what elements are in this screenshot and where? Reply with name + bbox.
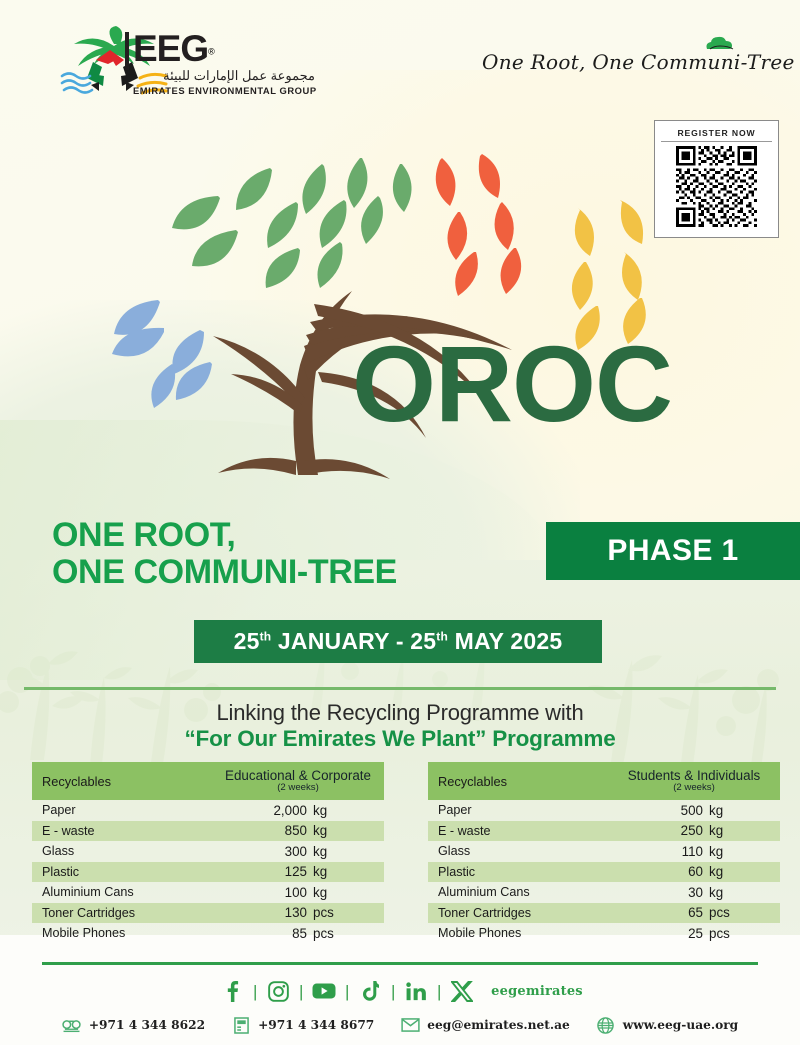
table-row: E - waste 850kg xyxy=(32,821,384,842)
row-value: 500kg xyxy=(608,800,780,821)
poster-canvas: EEG® مجموعة عمل الإمارات للبيئة EMIRATES… xyxy=(0,0,800,1045)
row-label: Toner Cartridges xyxy=(32,903,212,924)
phone-number: +971 4 344 8622 xyxy=(89,1018,205,1032)
table-row: Toner Cartridges 130pcs xyxy=(32,903,384,924)
row-label: Aluminium Cans xyxy=(32,882,212,903)
row-label: Paper xyxy=(32,800,212,821)
campaign-date-badge: 25th JANUARY - 25th MAY 2025 xyxy=(194,620,602,663)
table-row: Plastic 125kg xyxy=(32,862,384,883)
row-label: Paper xyxy=(428,800,608,821)
facebook-icon[interactable] xyxy=(217,978,247,1004)
table-row: Aluminium Cans 30kg xyxy=(428,882,780,903)
row-value: 60kg xyxy=(608,862,780,883)
email-address: eeg@emirates.net.ae xyxy=(427,1018,569,1032)
divider: | xyxy=(385,983,401,1000)
oroc-wordmark: OROC xyxy=(352,330,672,438)
phase-label: PHASE 1 xyxy=(607,534,738,568)
fax-number: +971 4 344 8677 xyxy=(258,1018,374,1032)
row-value: 30kg xyxy=(608,882,780,903)
divider: | xyxy=(431,983,447,1000)
poster-header: EEG® مجموعة عمل الإمارات للبيئة EMIRATES… xyxy=(0,0,800,115)
eeg-acronym: EEG xyxy=(133,30,208,67)
table-row: Paper 2,000kg xyxy=(32,800,384,821)
globe-icon xyxy=(596,1016,616,1034)
eeg-full-name: EMIRATES ENVIRONMENTAL GROUP xyxy=(133,85,317,96)
website-url: www.eeg-uae.org xyxy=(623,1018,738,1032)
registered-mark: ® xyxy=(208,47,215,57)
column-header-recyclables: Recyclables xyxy=(32,762,212,800)
campaign-headline: ONE ROOT, ONE COMMUNI-TREE xyxy=(52,517,397,590)
table-header-row: Recyclables Educational & Corporate (2 w… xyxy=(32,762,384,800)
campaign-tagline: One Root, One Communi-Tree xyxy=(482,50,782,94)
youtube-icon[interactable] xyxy=(309,978,339,1004)
row-value: 2,000kg xyxy=(212,800,384,821)
table-row: Plastic 60kg xyxy=(428,862,780,883)
row-label: Glass xyxy=(32,841,212,862)
phase-badge: PHASE 1 xyxy=(546,522,800,580)
social-handle: eegemirates xyxy=(491,984,583,999)
tagline-text: One Root, One Communi-Tree xyxy=(482,50,795,74)
contact-info-bar: +971 4 344 8622 +971 4 344 8677 eeg@emir… xyxy=(0,1012,800,1038)
subtitle-line1: Linking the Recycling Programme with xyxy=(0,700,800,726)
row-value: 110kg xyxy=(608,841,780,862)
row-value: 250kg xyxy=(608,821,780,842)
contact-website[interactable]: www.eeg-uae.org xyxy=(596,1016,738,1034)
row-value: 130pcs xyxy=(212,903,384,924)
table-row: Glass 300kg xyxy=(32,841,384,862)
eeg-wordmark: EEG® مجموعة عمل الإمارات للبيئة EMIRATES… xyxy=(133,30,317,96)
row-label: Plastic xyxy=(428,862,608,883)
table-header-row: Recyclables Students & Individuals (2 we… xyxy=(428,762,780,800)
contact-fax[interactable]: +971 4 344 8677 xyxy=(231,1016,374,1034)
section-divider-top xyxy=(24,687,776,690)
row-label: Toner Cartridges xyxy=(428,903,608,924)
eeg-arabic-name: مجموعة عمل الإمارات للبيئة xyxy=(133,68,315,84)
headline-line2: ONE COMMUNI-TREE xyxy=(52,554,397,591)
linkedin-icon[interactable] xyxy=(401,978,431,1004)
column-header-category: Educational & Corporate (2 weeks) xyxy=(212,762,384,800)
table-row: Aluminium Cans 100kg xyxy=(32,882,384,903)
category-duration: (2 weeks) xyxy=(277,783,319,794)
divider: | xyxy=(247,983,263,1000)
eeg-rule xyxy=(125,32,129,70)
row-value: 850kg xyxy=(212,821,384,842)
row-value: 25pcs xyxy=(608,923,780,944)
email-icon xyxy=(400,1016,420,1034)
row-value: 85pcs xyxy=(212,923,384,944)
divider: | xyxy=(293,983,309,1000)
section-divider-bottom xyxy=(42,962,758,965)
table-row: Mobile Phones 25pcs xyxy=(428,923,780,944)
contact-phone[interactable]: +971 4 344 8622 xyxy=(62,1016,205,1034)
recyclables-tables: Recyclables Educational & Corporate (2 w… xyxy=(0,762,800,952)
table-educational-corporate: Recyclables Educational & Corporate (2 w… xyxy=(32,762,384,944)
row-label: Aluminium Cans xyxy=(428,882,608,903)
table-row: Glass 110kg xyxy=(428,841,780,862)
category-duration: (2 weeks) xyxy=(673,783,715,794)
column-header-category: Students & Individuals (2 weeks) xyxy=(608,762,780,800)
table-row: E - waste 250kg xyxy=(428,821,780,842)
row-value: 125kg xyxy=(212,862,384,883)
subtitle-line2: “For Our Emirates We Plant” Programme xyxy=(0,726,800,752)
social-links-bar: | | | | | eegemirates xyxy=(0,974,800,1008)
table-row: Toner Cartridges 65pcs xyxy=(428,903,780,924)
row-value: 100kg xyxy=(212,882,384,903)
x-twitter-icon[interactable] xyxy=(447,978,477,1004)
row-label: Mobile Phones xyxy=(428,923,608,944)
table-row: Paper 500kg xyxy=(428,800,780,821)
row-label: Glass xyxy=(428,841,608,862)
table-row: Mobile Phones 85pcs xyxy=(32,923,384,944)
instagram-icon[interactable] xyxy=(263,978,293,1004)
divider: | xyxy=(339,983,355,1000)
table-students-individuals: Recyclables Students & Individuals (2 we… xyxy=(428,762,780,944)
phone-icon xyxy=(62,1016,82,1034)
contact-email[interactable]: eeg@emirates.net.ae xyxy=(400,1016,569,1034)
fax-icon xyxy=(231,1016,251,1034)
category-title: Educational & Corporate xyxy=(225,768,371,783)
row-label: E - waste xyxy=(428,821,608,842)
category-title: Students & Individuals xyxy=(628,768,761,783)
row-label: E - waste xyxy=(32,821,212,842)
foliage-pattern-left xyxy=(0,560,230,790)
tiktok-icon[interactable] xyxy=(355,978,385,1004)
headline-line1: ONE ROOT, xyxy=(52,516,235,554)
row-label: Plastic xyxy=(32,862,212,883)
row-value: 65pcs xyxy=(608,903,780,924)
tagline-tree-icon xyxy=(704,36,738,52)
row-value: 300kg xyxy=(212,841,384,862)
row-label: Mobile Phones xyxy=(32,923,212,944)
campaign-date-label: 25th JANUARY - 25th MAY 2025 xyxy=(234,628,563,655)
column-header-recyclables: Recyclables xyxy=(428,762,608,800)
